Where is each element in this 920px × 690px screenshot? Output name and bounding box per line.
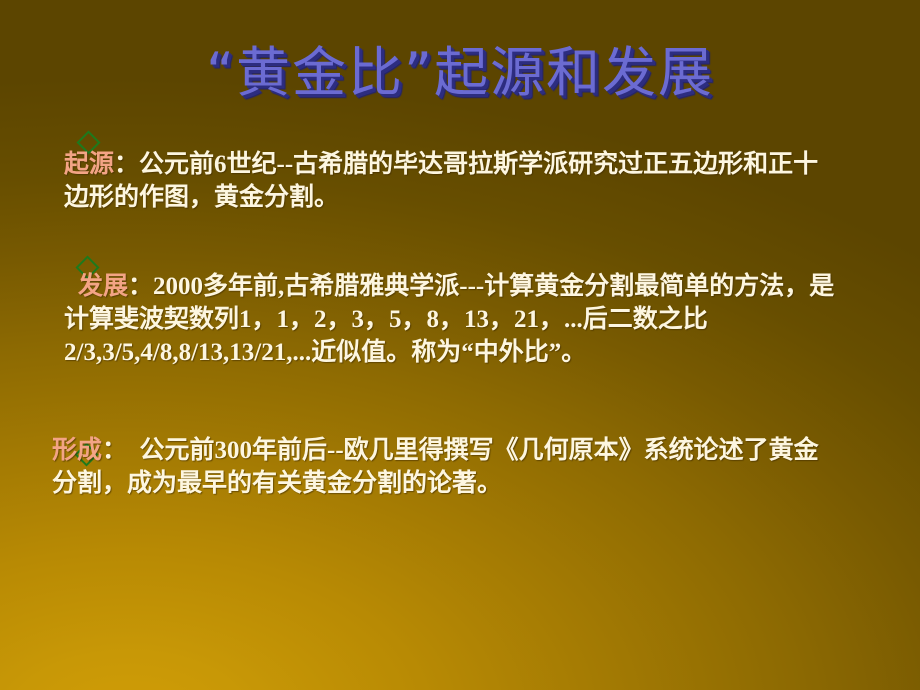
paragraph-origin: 起源：公元前6世纪--古希腊的毕达哥拉斯学派研究过正五边形和正十 边形的作图，黄… xyxy=(64,148,884,214)
paragraph-development: 发展：2000多年前,古希腊雅典学派---计算黄金分割最简单的方法，是 计算斐波… xyxy=(64,270,894,369)
slide-body: 起源：公元前6世纪--古希腊的毕达哥拉斯学派研究过正五边形和正十 边形的作图，黄… xyxy=(0,122,920,682)
paragraph-origin-line-2: 边形的作图，黄金分割。 xyxy=(64,181,884,214)
paragraph-development-separator: ： xyxy=(128,273,153,300)
paragraph-development-line-3: 2/3,3/5,4/8,8/13,13/21,...近似值。称为“中外比”。 xyxy=(64,336,894,369)
page-title: “黄金比”起源和发展 xyxy=(206,42,714,104)
paragraph-origin-lead: 起源 xyxy=(64,151,114,178)
paragraph-formation-line-1: 公元前300年前后--欧几里得撰写《几何原本》系统论述了黄金 xyxy=(140,437,819,464)
paragraph-formation-lead: 形成 xyxy=(52,437,102,464)
paragraph-formation-separator: ： xyxy=(102,437,127,464)
presentation-slide: “黄金比”起源和发展 起源：公元前6世纪--古希腊的毕达哥拉斯学派研究过正五边形… xyxy=(0,0,920,690)
paragraph-formation-line-2: 分割，成为最早的有关黄金分割的论著。 xyxy=(52,467,892,500)
paragraph-development-line-2: 计算斐波契数列1，1，2，3，5，8，13，21，...后二数之比 xyxy=(64,303,894,336)
title-block: “黄金比”起源和发展 xyxy=(0,42,920,104)
paragraph-formation: 形成： 公元前300年前后--欧几里得撰写《几何原本》系统论述了黄金 分割，成为… xyxy=(52,434,892,500)
paragraph-development-lead: 发展 xyxy=(78,273,128,300)
paragraph-origin-line-1: 公元前6世纪--古希腊的毕达哥拉斯学派研究过正五边形和正十 xyxy=(139,151,818,178)
paragraph-development-line-1: 2000多年前,古希腊雅典学派---计算黄金分割最简单的方法，是 xyxy=(153,273,834,300)
paragraph-origin-separator: ： xyxy=(114,151,139,178)
